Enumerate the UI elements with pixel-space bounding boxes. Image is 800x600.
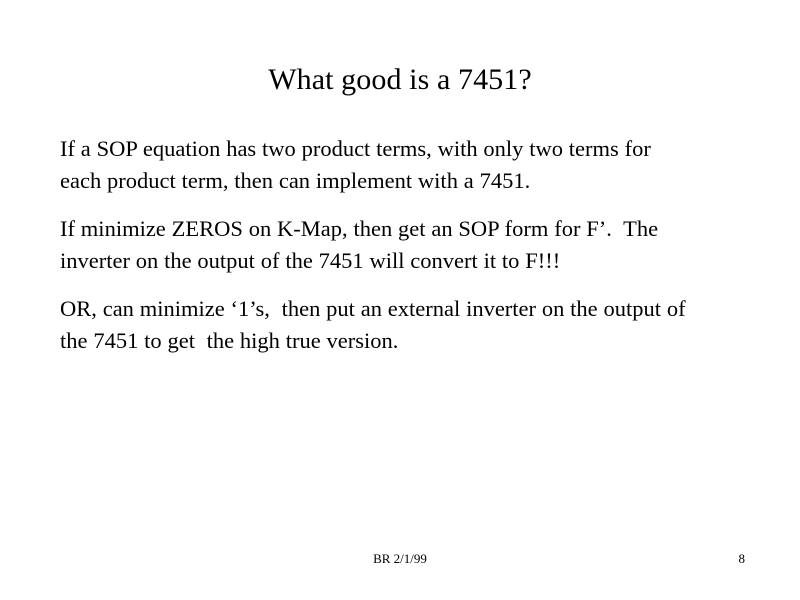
body-paragraph-1: If a SOP equation has two product terms,… — [60, 133, 690, 197]
page-title: What good is a 7451? — [0, 62, 800, 98]
body-paragraph-2: If minimize ZEROS on K-Map, then get an … — [60, 213, 690, 277]
slide-body: If a SOP equation has two product terms,… — [60, 133, 690, 357]
slide-canvas: What good is a 7451? If a SOP equation h… — [0, 0, 800, 600]
footer-page-number: 8 — [0, 551, 745, 567]
body-paragraph-3: OR, can minimize ‘1’s, then put an exter… — [60, 293, 690, 357]
